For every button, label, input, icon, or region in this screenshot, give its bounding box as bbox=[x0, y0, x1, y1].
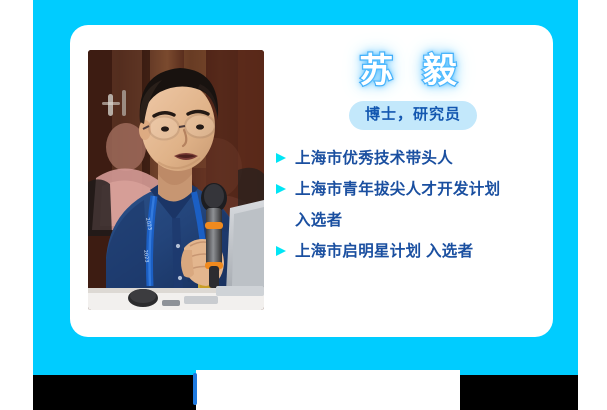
title-badge: 博士，研究员 bbox=[349, 101, 477, 130]
triangle-right-icon bbox=[275, 151, 291, 169]
person-name: 苏 毅 bbox=[359, 47, 466, 95]
bottom-white-plate bbox=[196, 370, 460, 410]
triangle-right-icon bbox=[275, 244, 291, 262]
bottom-blue-accent bbox=[193, 373, 197, 405]
achievement-list: 上海市优秀技术带头人 上海市青年拔尖人才开发计划 入选者 bbox=[275, 146, 543, 265]
achievement-text: 上海市青年拔尖人才开发计划 bbox=[295, 177, 543, 203]
list-item-continuation: 入选者 bbox=[275, 208, 543, 234]
list-item: 上海市优秀技术带头人 bbox=[275, 146, 543, 172]
profile-info-column: 苏 毅 博士，研究员 上海市优秀技术带头人 上海市青年拔尖人才开发计划 bbox=[275, 47, 543, 315]
profile-card: 2023 2023 bbox=[70, 25, 553, 337]
profile-photo: 2023 2023 bbox=[88, 50, 264, 310]
achievement-text: 上海市启明星计划 入选者 bbox=[295, 239, 543, 265]
slide-canvas: 2023 2023 bbox=[0, 0, 607, 410]
achievement-text-wrap: 入选者 bbox=[295, 208, 543, 234]
triangle-right-icon bbox=[275, 182, 291, 200]
triangle-right-icon-placeholder bbox=[275, 213, 291, 231]
title-badge-row: 博士，研究员 bbox=[275, 101, 543, 130]
achievement-text: 上海市优秀技术带头人 bbox=[295, 146, 543, 172]
list-item: 上海市启明星计划 入选者 bbox=[275, 239, 543, 265]
name-row: 苏 毅 bbox=[275, 47, 543, 99]
list-item: 上海市青年拔尖人才开发计划 bbox=[275, 177, 543, 203]
